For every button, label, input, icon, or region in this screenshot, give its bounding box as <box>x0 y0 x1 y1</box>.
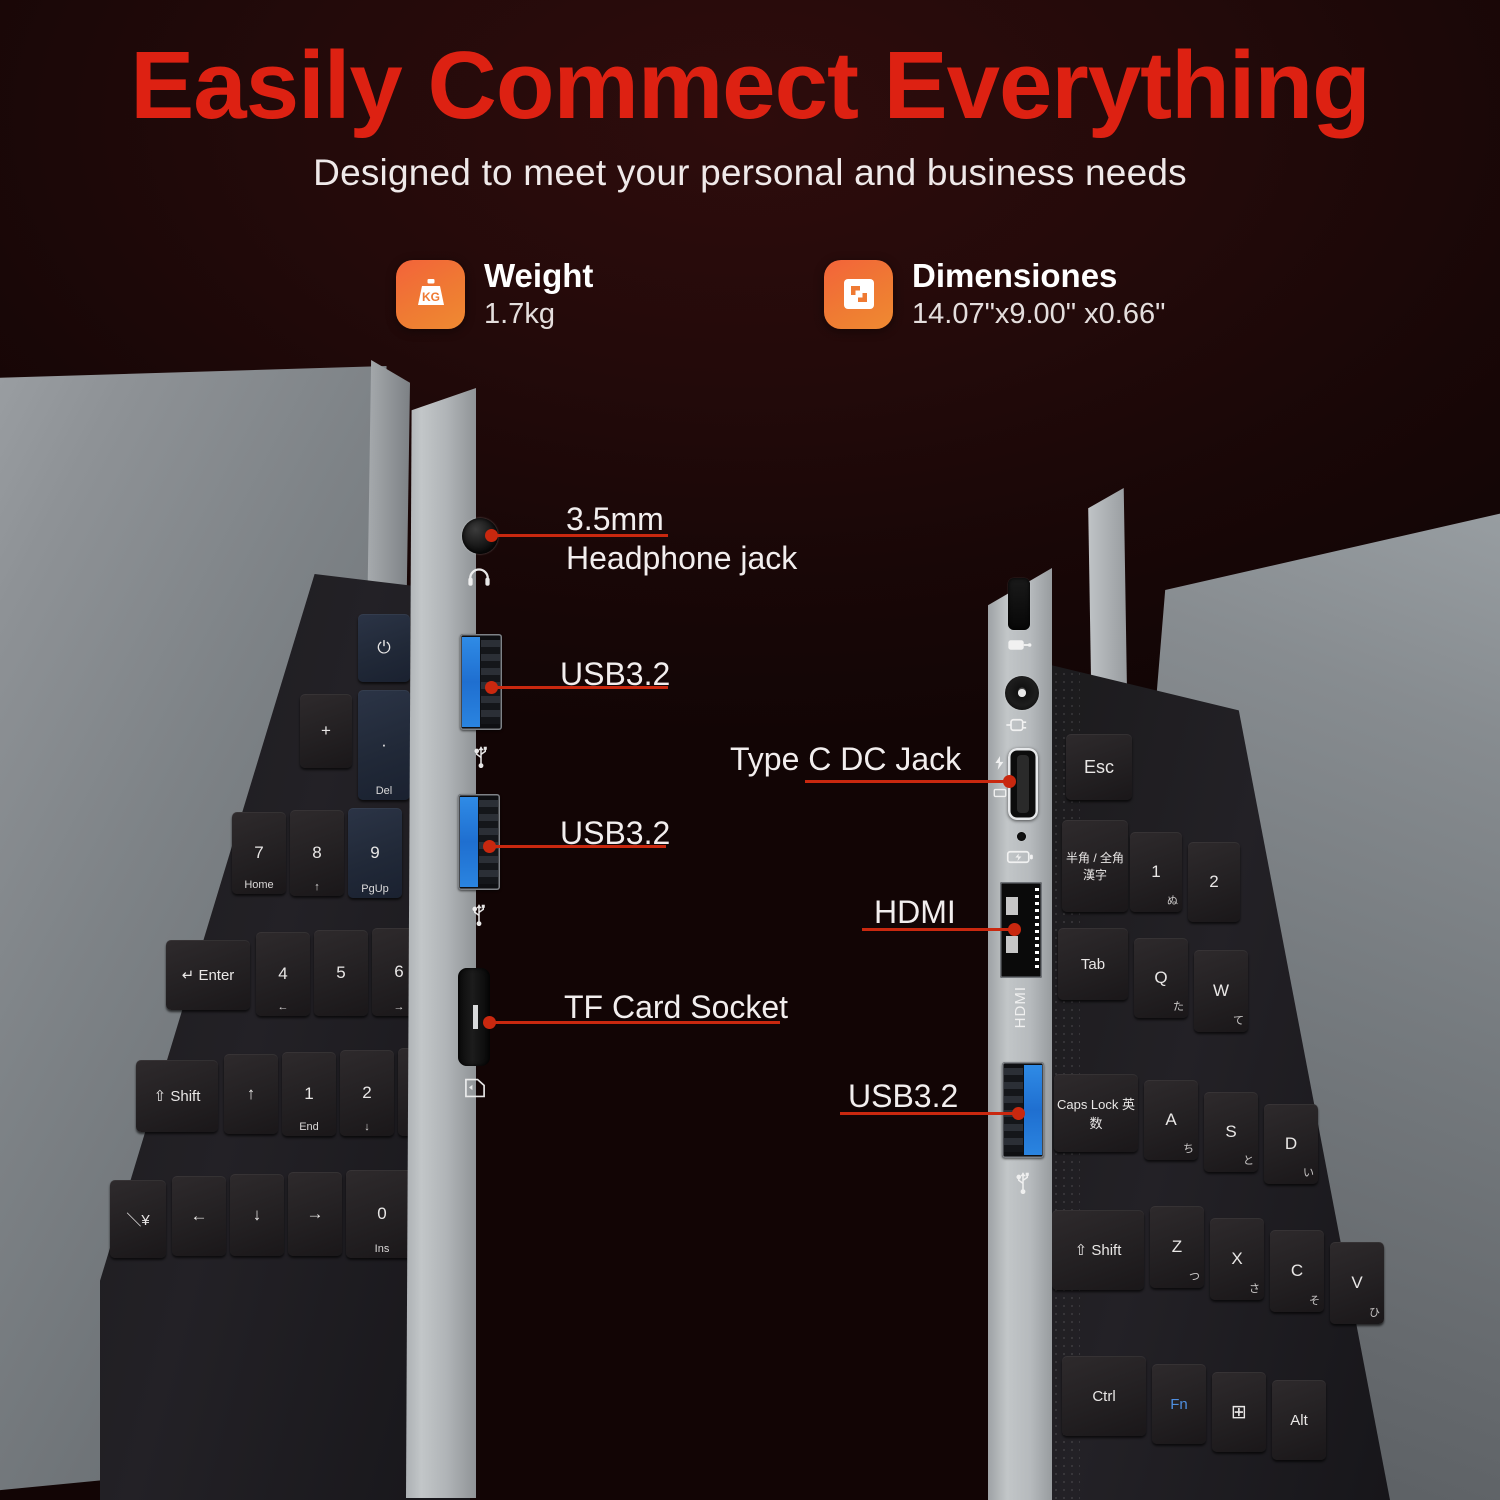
key-v-main: V <box>1351 1273 1362 1293</box>
key-4-sub: ← <box>278 1001 289 1013</box>
sd-card-icon <box>462 1076 488 1100</box>
key-hankaku-label: 半角 / 全角 漢字 <box>1064 849 1126 883</box>
key-0-ins[interactable]: 0 Ins <box>346 1170 418 1258</box>
key-d-main: D <box>1285 1134 1297 1154</box>
key-arrow-right-label: → <box>307 1204 324 1224</box>
key-9-pgup[interactable]: 9 PgUp <box>348 808 402 898</box>
callout-usb3-dot <box>1012 1107 1025 1120</box>
key-shift-right-kb[interactable]: ⇧ Shift <box>1052 1210 1144 1290</box>
key-8-up[interactable]: 8 ↑ <box>290 810 344 896</box>
key-2-down[interactable]: 2 ↓ <box>340 1050 394 1136</box>
key-5[interactable]: 5 <box>314 930 368 1016</box>
key-plus-label: + <box>321 721 331 741</box>
key-5-main: 5 <box>336 963 345 983</box>
spec-dimensions: Dimensiones 14.07"x9.00" x0.66" <box>824 258 1165 330</box>
charge-bolt-icon <box>992 756 1008 770</box>
callout-usb3-label: USB3.2 <box>848 1077 958 1116</box>
callout-headphone-label: 3.5mm Headphone jack <box>566 500 797 578</box>
key-windows[interactable]: ⊞ <box>1212 1372 1266 1452</box>
callout-usb1-dot <box>485 681 498 694</box>
key-d[interactable]: D い <box>1264 1104 1318 1184</box>
key-7-home[interactable]: 7 Home <box>232 812 286 894</box>
key-power[interactable]: ⏻ <box>358 614 410 682</box>
infographic-canvas: Easily Commect Everything Designed to me… <box>0 0 1500 1500</box>
key-1-main: 1 <box>304 1084 313 1104</box>
key-alt-label: Alt <box>1290 1412 1308 1429</box>
callout-tf-dot <box>483 1016 496 1029</box>
key-7-main: 7 <box>254 843 263 863</box>
key-fn[interactable]: Fn <box>1152 1364 1206 1444</box>
key-shift-numpad[interactable]: ⇧ Shift <box>136 1060 218 1132</box>
callout-hdmi-dot <box>1008 923 1021 936</box>
usb-icon-2 <box>468 900 490 926</box>
key-1-nu[interactable]: 1 ぬ <box>1130 832 1182 912</box>
key-del[interactable]: · Del <box>358 690 410 800</box>
key-8-main: 8 <box>312 843 321 863</box>
key-6-sub: → <box>394 1001 405 1013</box>
callout-headphone-dot <box>485 529 498 542</box>
headphone-icon <box>464 562 494 592</box>
key-tab[interactable]: Tab <box>1058 928 1128 1000</box>
callout-usb3-line <box>840 1112 1018 1115</box>
key-7-sub: Home <box>244 879 273 891</box>
hdmi-port-text: HDMI <box>1012 986 1029 1028</box>
key-z[interactable]: Z つ <box>1150 1206 1204 1288</box>
key-2-jp-main: 2 <box>1209 872 1218 892</box>
key-yen[interactable]: ＼¥ <box>110 1180 166 1258</box>
lock-slot-port[interactable] <box>1008 578 1030 630</box>
key-6-main: 6 <box>394 962 403 982</box>
key-c-main: C <box>1291 1261 1303 1281</box>
key-ctrl[interactable]: Ctrl <box>1062 1356 1146 1436</box>
key-c-jp: そ <box>1309 1292 1320 1308</box>
key-plus[interactable]: + <box>300 694 352 768</box>
page-title: Easily Commect Everything <box>0 36 1500 137</box>
key-9-main: 9 <box>370 843 379 863</box>
key-yen-main: ＼¥ <box>126 1209 149 1230</box>
callout-tf-line <box>490 1021 780 1024</box>
key-fn-label: Fn <box>1170 1396 1188 1413</box>
lock-slot-icon <box>1006 636 1032 654</box>
callout-usb2-dot <box>483 840 496 853</box>
key-a-main: A <box>1165 1110 1176 1130</box>
spec-weight-value: 1.7kg <box>484 298 593 330</box>
key-ctrl-label: Ctrl <box>1092 1388 1115 1405</box>
displayport-icon <box>992 786 1008 800</box>
usb-icon-3 <box>1012 1168 1034 1194</box>
key-arrow-left-label: ← <box>191 1206 208 1226</box>
key-arrow-up[interactable]: ↑ <box>224 1054 278 1134</box>
key-1-jp-main: 1 <box>1151 862 1160 882</box>
key-1-jp-sub: ぬ <box>1167 892 1178 908</box>
key-q-main: Q <box>1154 968 1167 988</box>
svg-text:KG: KG <box>422 290 440 304</box>
key-0-sub: Ins <box>375 1243 390 1255</box>
key-8-sub: ↑ <box>314 881 320 893</box>
key-enter[interactable]: ↵ Enter <box>166 940 250 1010</box>
key-z-jp: つ <box>1189 1268 1200 1284</box>
key-s-main: S <box>1225 1122 1236 1142</box>
callout-headphone-line <box>492 534 668 537</box>
key-esc-label: Esc <box>1084 757 1114 778</box>
key-z-main: Z <box>1172 1237 1182 1257</box>
key-shift-label: ⇧ Shift <box>154 1087 201 1105</box>
key-q[interactable]: Q た <box>1134 938 1188 1018</box>
key-esc[interactable]: Esc <box>1066 734 1132 800</box>
dimensions-icon <box>824 260 893 329</box>
key-1-sub: End <box>299 1121 319 1133</box>
key-arrow-right[interactable]: → <box>288 1172 342 1256</box>
key-2-jp[interactable]: 2 <box>1188 842 1240 922</box>
key-caps-label: Caps Lock 英数 <box>1054 1094 1138 1132</box>
laptop-left: ⏻ + · Del 7 Home 8 ↑ 9 PgUp ↵ Enter 4 ← <box>0 360 520 1500</box>
key-enter-label: ↵ Enter <box>182 966 235 984</box>
key-c[interactable]: C そ <box>1270 1230 1324 1312</box>
key-1-end[interactable]: 1 End <box>282 1052 336 1136</box>
callout-hdmi-line <box>862 928 1014 931</box>
charge-led-indicator <box>1017 832 1026 841</box>
key-x-main: X <box>1231 1249 1242 1269</box>
key-w-main: W <box>1213 981 1229 1001</box>
key-d-jp: い <box>1303 1164 1314 1180</box>
key-arrow-down-label: ↓ <box>253 1205 262 1225</box>
key-v-jp: ひ <box>1369 1304 1380 1320</box>
key-q-jp: た <box>1173 998 1184 1014</box>
callout-usb1-line <box>492 686 668 689</box>
key-4-main: 4 <box>278 964 287 984</box>
key-0-main: 0 <box>377 1204 386 1224</box>
key-9-sub: PgUp <box>361 883 389 895</box>
key-a-jp: ち <box>1183 1140 1194 1156</box>
key-hankaku-zenkaku[interactable]: 半角 / 全角 漢字 <box>1062 820 1128 912</box>
laptop-left-port-rail <box>406 388 476 1498</box>
key-del-sub: Del <box>376 785 393 797</box>
laptop-right: Esc 半角 / 全角 漢字 1 ぬ 2 Tab Q た W て Caps Lo… <box>980 480 1500 1500</box>
key-power-label: ⏻ <box>377 638 390 658</box>
key-shift-right-label: ⇧ Shift <box>1075 1241 1122 1259</box>
key-windows-label: ⊞ <box>1231 1401 1247 1424</box>
key-s[interactable]: S と <box>1204 1092 1258 1172</box>
callout-type-c-dot <box>1003 775 1016 788</box>
key-w[interactable]: W て <box>1194 950 1248 1032</box>
power-plug-icon <box>1004 716 1032 734</box>
weight-kg-icon: KG <box>396 260 465 329</box>
callout-headphone-line1: 3.5mm <box>566 501 664 537</box>
spec-dimensions-value: 14.07"x9.00" x0.66" <box>912 298 1165 330</box>
key-caps-lock[interactable]: Caps Lock 英数 <box>1054 1074 1138 1152</box>
key-arrow-up-label: ↑ <box>247 1084 256 1104</box>
spec-weight: KG Weight 1.7kg <box>396 258 593 330</box>
spec-dimensions-label: Dimensiones <box>912 258 1165 295</box>
spec-weight-label: Weight <box>484 258 593 295</box>
key-4-left[interactable]: 4 ← <box>256 932 310 1016</box>
callout-usb2-line <box>490 845 666 848</box>
key-w-jp: て <box>1233 1012 1244 1028</box>
key-x-jp: さ <box>1249 1280 1260 1296</box>
key-s-jp: と <box>1243 1152 1254 1168</box>
callout-type-c-label: Type C DC Jack <box>730 740 961 779</box>
key-del-main: · <box>381 735 387 755</box>
callout-headphone-line2: Headphone jack <box>566 540 797 576</box>
key-tab-label: Tab <box>1081 956 1105 973</box>
key-arrow-left[interactable]: ← <box>172 1176 226 1256</box>
battery-charging-icon <box>1006 848 1034 866</box>
key-alt[interactable]: Alt <box>1272 1380 1326 1460</box>
callout-hdmi-label: HDMI <box>874 893 956 932</box>
dc-barrel-jack-port[interactable] <box>1005 676 1039 710</box>
key-arrow-down[interactable]: ↓ <box>230 1174 284 1256</box>
callout-type-c-line <box>805 780 1010 783</box>
key-2-sub: ↓ <box>364 1121 370 1133</box>
key-x[interactable]: X さ <box>1210 1218 1264 1300</box>
key-2-main: 2 <box>362 1083 371 1103</box>
usb-icon-1 <box>470 742 492 768</box>
key-v[interactable]: V ひ <box>1330 1242 1384 1324</box>
key-a[interactable]: A ち <box>1144 1080 1198 1160</box>
page-subtitle: Designed to meet your personal and busin… <box>0 152 1500 194</box>
